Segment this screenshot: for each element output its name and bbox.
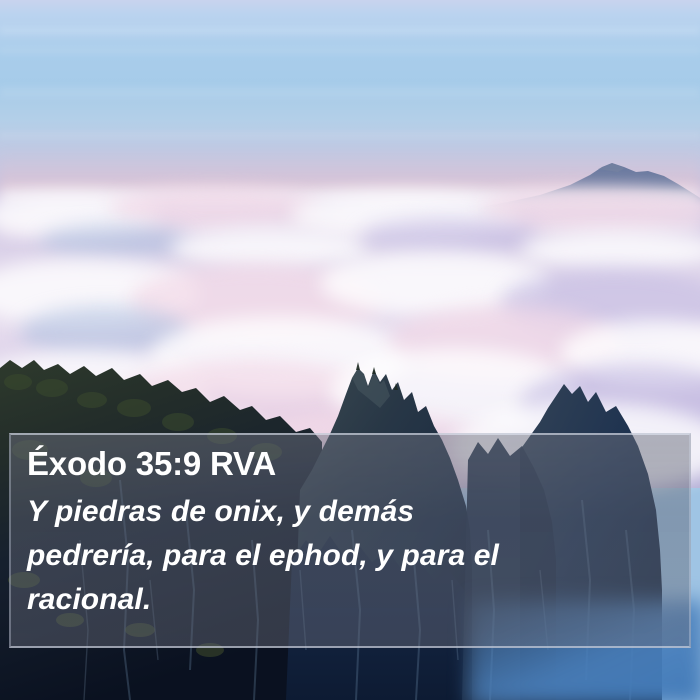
cloud-puff <box>360 218 540 254</box>
cloud-puff <box>110 188 320 228</box>
cloud-streak <box>0 26 700 35</box>
verse-text: Y piedras de onix, y demás pedrería, par… <box>27 490 675 622</box>
verse-text-line: Y piedras de onix, y demás <box>27 490 675 534</box>
cloud-streak <box>0 132 700 139</box>
cloud-streak <box>0 86 700 98</box>
verse-text-line: pedrería, para el ephod, y para el <box>27 534 675 578</box>
cloud-streak <box>0 48 700 54</box>
verse-reference: Éxodo 35:9 RVA <box>27 444 675 484</box>
verse-text-line: racional. <box>27 578 675 622</box>
verse-image-scene: Éxodo 35:9 RVA Y piedras de onix, y demá… <box>0 0 700 700</box>
cloud-puff <box>170 228 370 268</box>
verse-overlay-panel: Éxodo 35:9 RVA Y piedras de onix, y demá… <box>9 433 691 648</box>
cloud-puff <box>520 230 700 270</box>
cloud-puff <box>40 224 190 258</box>
